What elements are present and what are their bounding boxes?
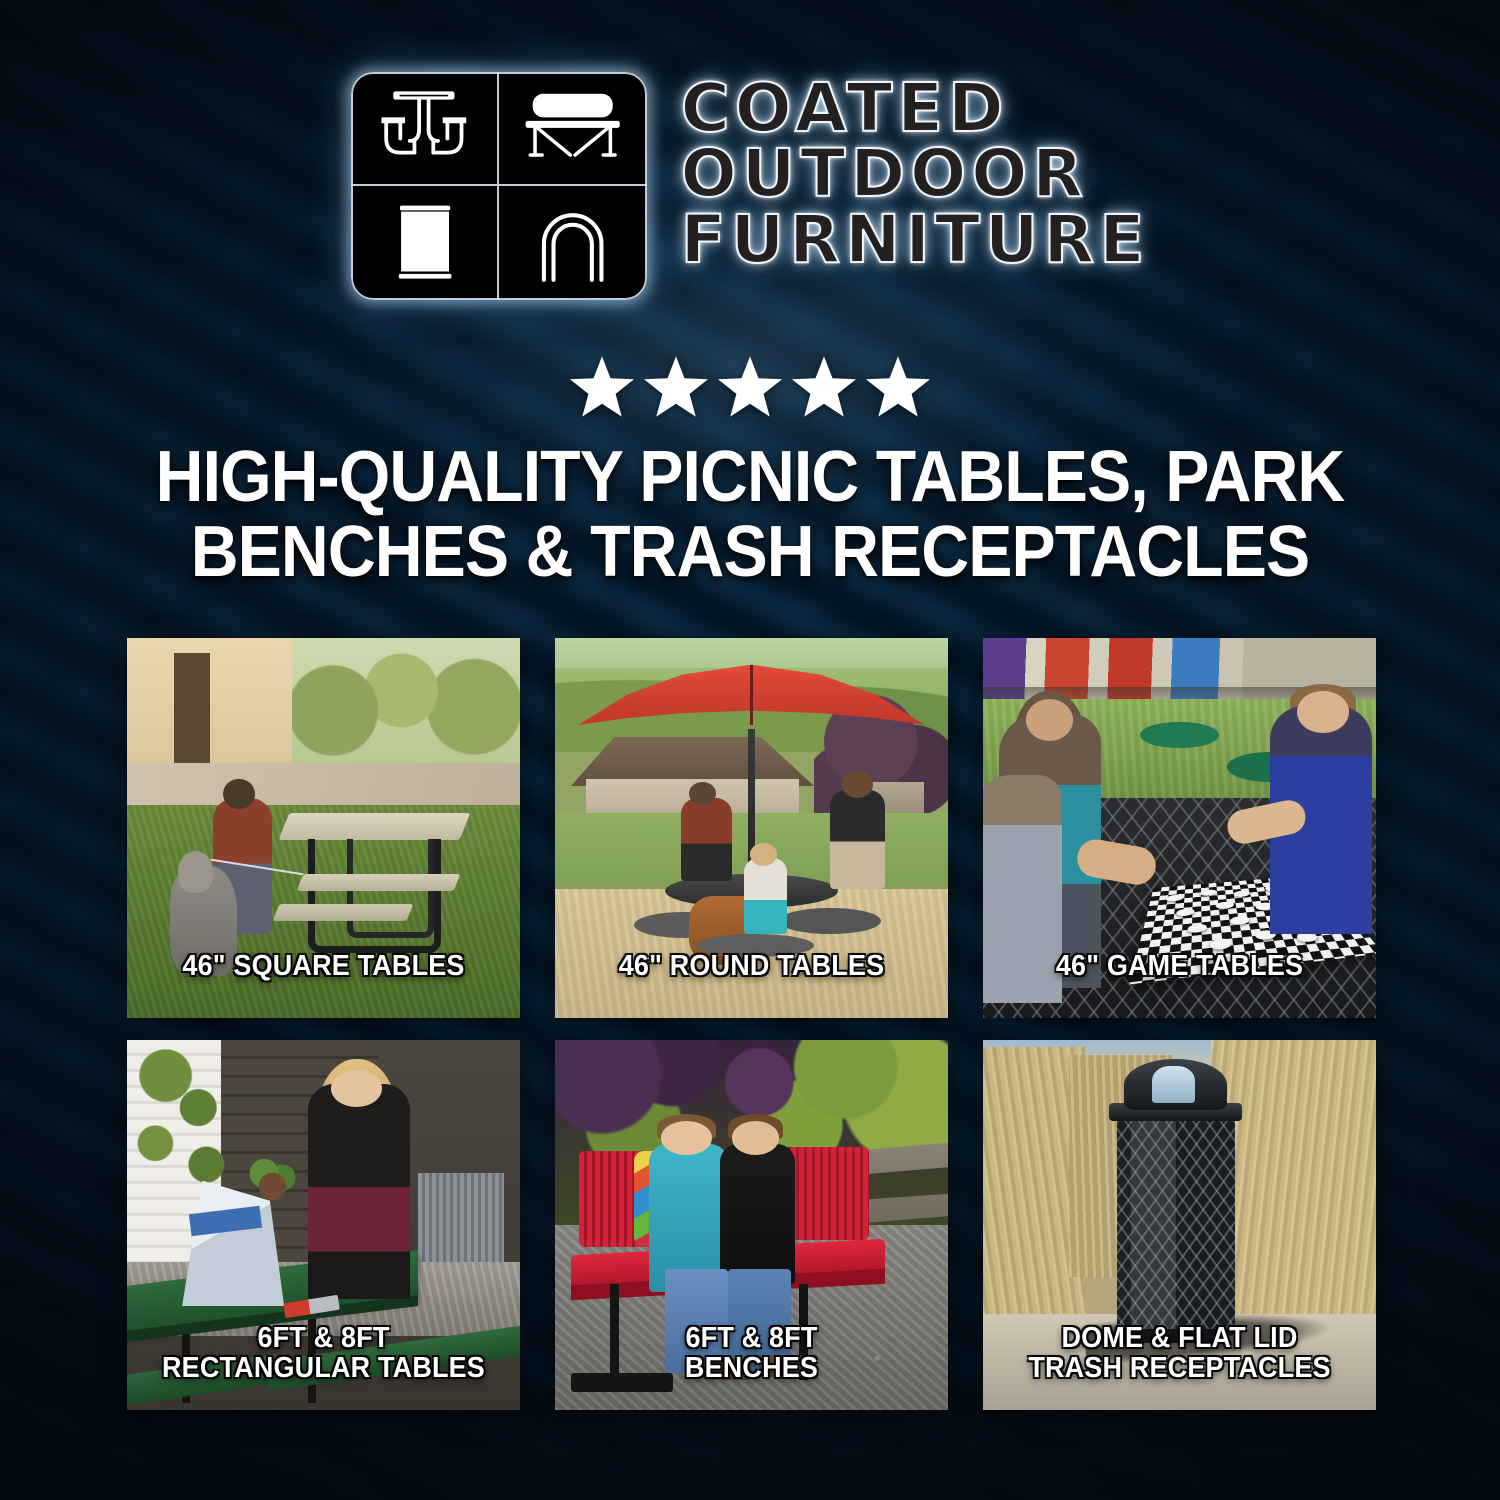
logo-icon-grid: [351, 72, 647, 300]
product-photo-trash-receptacles: [983, 1040, 1376, 1410]
product-tile-benches[interactable]: 6FT & 8FT BENCHES: [555, 1040, 948, 1410]
rating-star: [570, 356, 634, 418]
checker-piece: [1176, 908, 1195, 917]
brand-wordmark: COATED OUTDOOR FURNITURE: [681, 72, 1150, 271]
bike-rack-icon: [499, 186, 647, 300]
brand-word-furniture: FURNITURE: [681, 208, 1150, 271]
trash-receptacle-icon: [351, 186, 499, 300]
checker-piece: [1230, 916, 1250, 926]
checker-piece: [1216, 901, 1234, 909]
checker-piece: [1210, 938, 1232, 950]
rating-star: [792, 356, 856, 418]
checker-piece: [1200, 889, 1217, 896]
checker-piece: [1233, 890, 1251, 897]
brand-word-coated: COATED: [681, 76, 1150, 140]
picnic-table-icon: [351, 72, 499, 186]
product-photo-square-tables: [127, 638, 520, 1018]
bench-table-icon: [499, 72, 647, 186]
product-photo-benches: [555, 1040, 948, 1410]
product-grid: 46" SQUARE TABLES 46": [127, 638, 1375, 1410]
rating-star: [718, 356, 782, 418]
poster-canvas: COATED OUTDOOR FURNITURE HIGH-QUALITY PI…: [0, 0, 1500, 1500]
brand-word-outdoor: OUTDOOR: [681, 142, 1150, 205]
headline-line-1: HIGH-QUALITY PICNIC TABLES, PARK: [60, 440, 1440, 515]
checker-piece: [1166, 894, 1184, 902]
product-tile-trash-receptacles[interactable]: DOME & FLAT LID TRASH RECEPTACLES: [983, 1040, 1376, 1410]
rating-star: [644, 356, 708, 418]
headline-line-2: BENCHES & TRASH RECEPTACLES: [60, 515, 1440, 590]
brand-logo: COATED OUTDOOR FURNITURE: [0, 72, 1500, 300]
page-title: HIGH-QUALITY PICNIC TABLES, PARK BENCHES…: [60, 440, 1440, 590]
product-tile-game-tables[interactable]: 46" GAME TABLES: [983, 638, 1376, 1018]
rating-stars: [0, 356, 1500, 418]
product-tile-square-tables[interactable]: 46" SQUARE TABLES: [127, 638, 520, 1018]
product-tile-rectangular-tables[interactable]: 6FT & 8FT RECTANGULAR TABLES: [127, 1040, 520, 1410]
product-photo-rectangular-tables: [127, 1040, 520, 1410]
checker-piece: [1187, 923, 1207, 933]
product-photo-game-tables: [983, 638, 1376, 1018]
product-photo-round-tables: [555, 638, 948, 1018]
product-tile-round-tables[interactable]: 46" ROUND TABLES: [555, 638, 948, 1018]
rating-star: [866, 356, 930, 418]
